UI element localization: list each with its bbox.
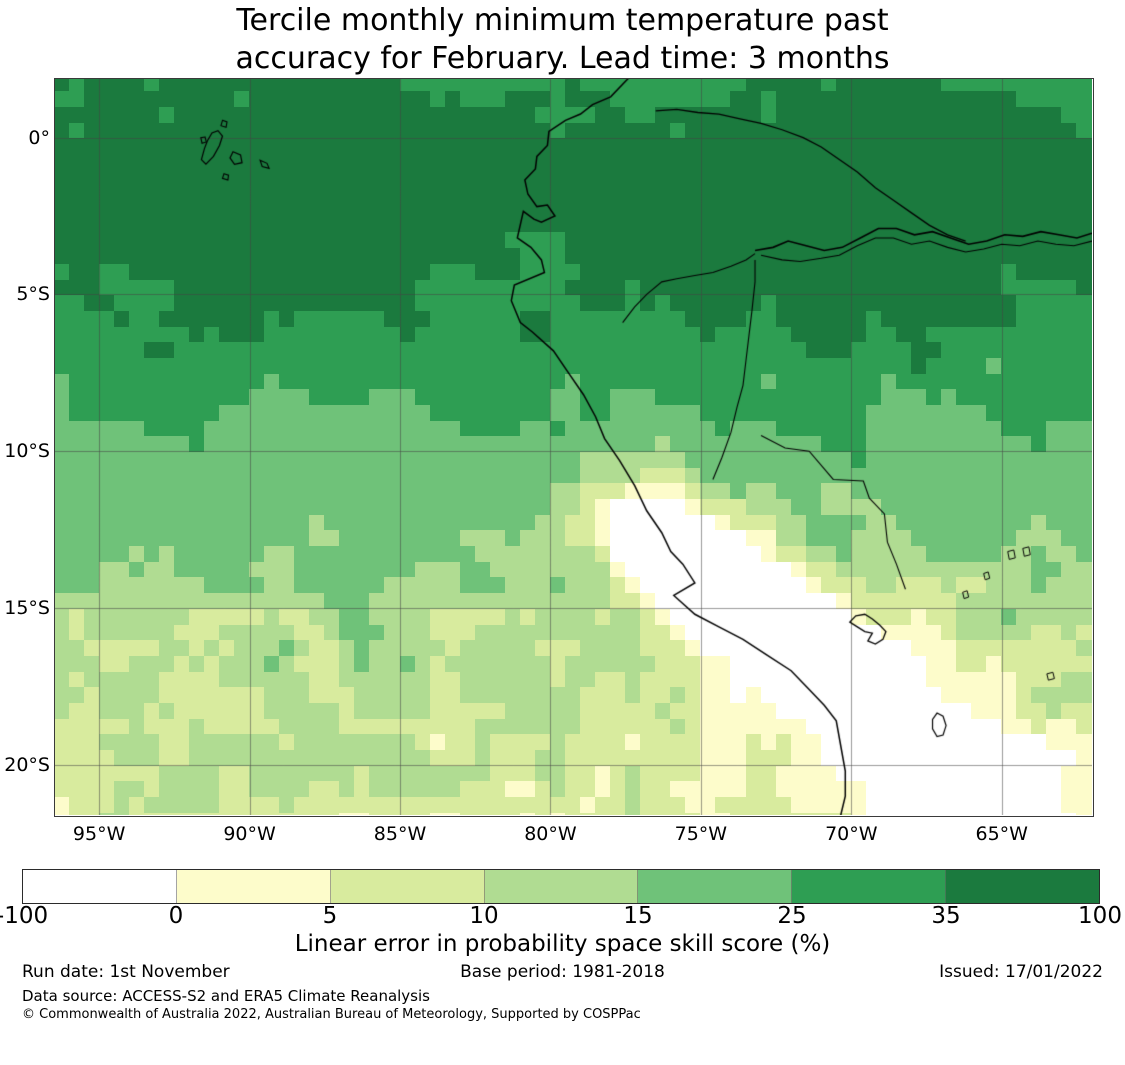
x-tick-label-4: 75°W — [675, 823, 727, 845]
data-source-text: Data source: ACCESS-S2 and ERA5 Climate … — [22, 987, 430, 1005]
colorbar-segment-0 — [23, 870, 177, 903]
coastline-and-gridline-overlay — [54, 78, 1092, 815]
colorbar-tick-1: 0 — [169, 903, 184, 929]
colorbar-tick-2: 5 — [323, 903, 338, 929]
colorbar-segment-4 — [638, 870, 792, 903]
x-tick-label-0: 95°W — [73, 823, 125, 845]
y-tick-label-4: 20°S — [4, 754, 50, 776]
colorbar-title: Linear error in probability space skill … — [0, 931, 1125, 957]
colorbar-tick-6: 35 — [931, 903, 960, 929]
y-tick-label-2: 10°S — [4, 440, 50, 462]
colorbar-segment-2 — [331, 870, 485, 903]
colorbar — [22, 869, 1100, 904]
colorbar-tick-0: -100 — [0, 903, 48, 929]
figure-root: Tercile monthly minimum temperature past… — [0, 0, 1125, 1065]
y-tick-label-1: 5°S — [16, 283, 50, 305]
colorbar-tick-4: 15 — [623, 903, 652, 929]
map-plot-area — [54, 78, 1092, 815]
colorbar-segment-3 — [485, 870, 639, 903]
x-tick-label-2: 85°W — [374, 823, 426, 845]
title-line-2: accuracy for February. Lead time: 3 mont… — [0, 40, 1125, 78]
colorbar-tick-5: 25 — [777, 903, 806, 929]
x-tick-label-5: 70°W — [825, 823, 877, 845]
colorbar-tick-7: 100 — [1078, 903, 1122, 929]
colorbar-segment-1 — [177, 870, 331, 903]
colorbar-tick-3: 10 — [469, 903, 498, 929]
issued-date-text: Issued: 17/01/2022 — [939, 962, 1103, 982]
page-title: Tercile monthly minimum temperature past… — [0, 0, 1125, 78]
x-tick-label-6: 65°W — [976, 823, 1028, 845]
y-tick-label-0: 0° — [28, 127, 50, 149]
x-tick-label-1: 90°W — [223, 823, 275, 845]
x-tick-label-3: 80°W — [524, 823, 576, 845]
copyright-text: © Commonwealth of Australia 2022, Austra… — [22, 1007, 641, 1022]
title-line-1: Tercile monthly minimum temperature past — [0, 2, 1125, 40]
colorbar-segment-5 — [792, 870, 946, 903]
y-tick-label-3: 15°S — [4, 597, 50, 619]
colorbar-segment-6 — [946, 870, 1099, 903]
